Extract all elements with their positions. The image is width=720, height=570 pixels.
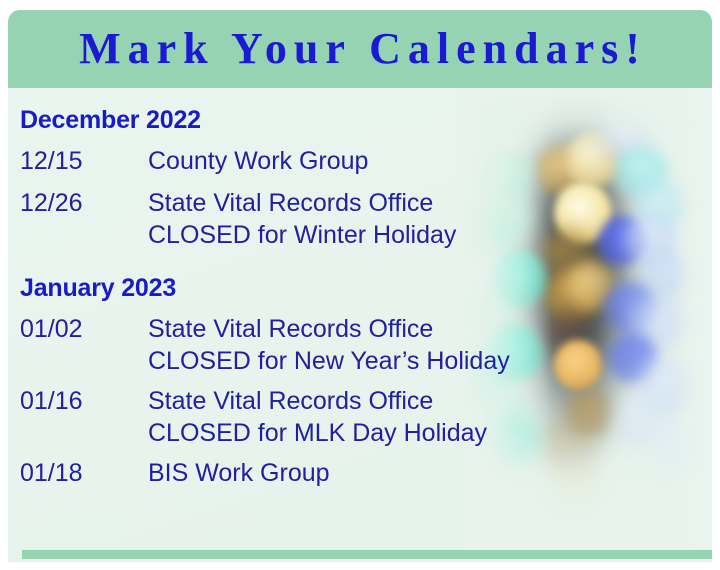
schedule-entry: 01/02 State Vital Records Office CLOSED … bbox=[20, 315, 540, 376]
entry-line-2: CLOSED for MLK Day Holiday bbox=[148, 419, 487, 448]
bokeh-circle-blue bbox=[646, 418, 698, 470]
bokeh-circle-blue bbox=[614, 144, 668, 198]
body-panel: December 2022 12/15 County Work Group 12… bbox=[8, 88, 712, 562]
bokeh-circle-gold bbox=[547, 312, 591, 358]
schedule-entry: 12/15 County Work Group bbox=[20, 147, 540, 176]
entry-description: State Vital Records Office CLOSED for ML… bbox=[148, 387, 487, 448]
bokeh-circle-gold bbox=[554, 340, 602, 390]
header-banner: Mark Your Calendars! bbox=[8, 10, 712, 88]
entry-line-2: CLOSED for New Year’s Holiday bbox=[148, 347, 510, 376]
bokeh-circle-gold bbox=[565, 132, 621, 188]
schedule-entry: 01/18 BIS Work Group bbox=[20, 459, 540, 488]
bokeh-circle-gold bbox=[554, 182, 612, 244]
bokeh-fade-right bbox=[672, 88, 712, 550]
month-section-december: December 2022 12/15 County Work Group 12… bbox=[20, 88, 540, 250]
entry-line-1: BIS Work Group bbox=[148, 459, 330, 487]
month-heading: January 2023 bbox=[20, 274, 540, 303]
entry-line-1: County Work Group bbox=[148, 147, 368, 175]
bokeh-circle-blue bbox=[638, 248, 688, 300]
month-heading: December 2022 bbox=[20, 106, 540, 135]
entry-line-1: State Vital Records Office bbox=[148, 387, 433, 415]
page-title: Mark Your Calendars! bbox=[8, 10, 712, 88]
entry-description: BIS Work Group bbox=[148, 459, 330, 488]
bokeh-circle-gold bbox=[548, 464, 600, 518]
entry-date: 01/16 bbox=[20, 387, 148, 448]
entry-description: State Vital Records Office CLOSED for Ne… bbox=[148, 315, 510, 376]
footer-accent-bar bbox=[22, 550, 712, 559]
schedule-entry: 01/16 State Vital Records Office CLOSED … bbox=[20, 387, 540, 448]
bokeh-circle-blue bbox=[608, 332, 658, 384]
entry-date: 12/15 bbox=[20, 147, 148, 176]
entry-description: State Vital Records Office CLOSED for Wi… bbox=[148, 189, 456, 250]
bokeh-circle-blue bbox=[634, 180, 686, 232]
bokeh-circle-blue bbox=[598, 216, 646, 266]
bokeh-circle-blue bbox=[638, 356, 694, 414]
bokeh-circle-gold bbox=[536, 144, 588, 196]
bokeh-circle-gold bbox=[566, 388, 612, 438]
bokeh-circle-blue bbox=[624, 212, 678, 266]
entry-date: 12/26 bbox=[20, 189, 148, 250]
month-section-january: January 2023 01/02 State Vital Records O… bbox=[20, 250, 540, 488]
bokeh-circle-blue bbox=[604, 282, 656, 334]
entry-line-1: State Vital Records Office bbox=[148, 189, 433, 217]
bokeh-circle-blue bbox=[600, 112, 652, 164]
bokeh-circle-blue bbox=[630, 294, 686, 350]
bokeh-circle-gold bbox=[540, 420, 596, 476]
entry-line-2: CLOSED for Winter Holiday bbox=[148, 221, 456, 250]
bokeh-circle-gold bbox=[540, 228, 594, 282]
bokeh-circle-blue bbox=[612, 394, 666, 448]
entry-description: County Work Group bbox=[148, 147, 368, 176]
entry-date: 01/18 bbox=[20, 459, 148, 488]
calendar-flyer: Mark Your Calendars! bbox=[8, 10, 712, 562]
schedule-list: December 2022 12/15 County Work Group 12… bbox=[20, 88, 540, 488]
bokeh-circle-gold bbox=[566, 260, 614, 312]
entry-line-1: State Vital Records Office bbox=[148, 315, 433, 343]
entry-date: 01/02 bbox=[20, 315, 148, 376]
schedule-entry: 12/26 State Vital Records Office CLOSED … bbox=[20, 189, 540, 250]
bokeh-circle-gold bbox=[544, 268, 596, 324]
